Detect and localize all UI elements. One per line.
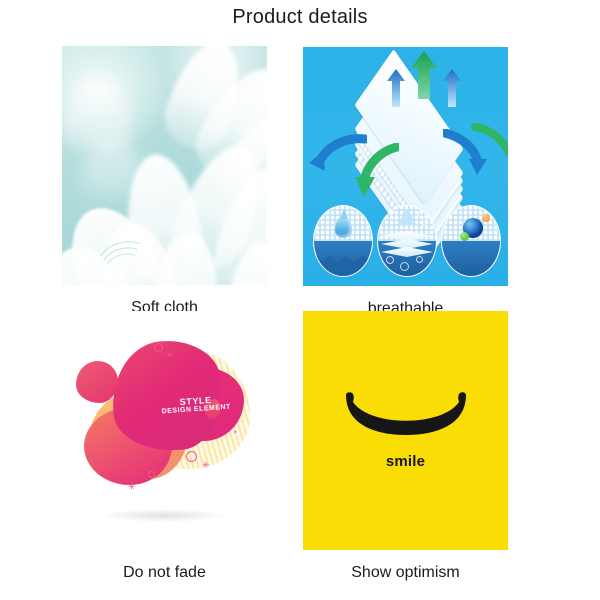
arrow-curve-green-icon (471, 119, 508, 159)
show-optimism-image[interactable]: smile (303, 311, 508, 550)
arrow-up-blue-icon (443, 69, 461, 107)
smile-label: smile (303, 453, 508, 470)
smile-curve-icon (303, 391, 508, 461)
sparkle-icon: ▪ (234, 429, 236, 436)
bubble-icon (390, 212, 397, 219)
product-detail-item-do-not-fade[interactable]: STYLE DESIGN ELEMENT ✳ ✳ ✳ ▪ Do not fade (62, 311, 307, 583)
breathable-feature-insets (311, 205, 501, 281)
breathable-image[interactable] (303, 47, 508, 286)
bubble-icon (400, 262, 409, 271)
arrow-up-blue-icon (387, 69, 405, 107)
product-detail-item-breathable[interactable]: breathable (303, 47, 548, 319)
fabric-stack-icon (381, 226, 433, 260)
decorative-ring-icon (186, 451, 197, 462)
soft-cloth-image[interactable] (62, 46, 267, 285)
blob-pink-lobe (76, 361, 118, 403)
vapour-arrow-icon (398, 208, 416, 224)
page-title: Product details (0, 6, 600, 29)
sparkle-icon: ✳ (128, 483, 136, 492)
water-droplet-icon (335, 216, 352, 238)
sparkle-icon: ✳ (202, 461, 210, 470)
do-not-fade-image[interactable]: STYLE DESIGN ELEMENT ✳ ✳ ✳ ▪ (62, 311, 267, 550)
inset-antibacterial (441, 205, 501, 277)
product-detail-item-soft-cloth[interactable]: Soft cloth (62, 46, 307, 318)
decorative-ring-icon (154, 343, 163, 352)
bubble-icon (416, 256, 423, 263)
decorative-ring-icon (148, 471, 155, 478)
product-detail-item-show-optimism[interactable]: smile Show optimism (303, 311, 548, 583)
bubble-icon (386, 256, 394, 264)
caption-show-optimism: Show optimism (303, 563, 508, 583)
bubble-icon (418, 210, 426, 218)
water-wave-icon (313, 250, 373, 276)
caption-do-not-fade: Do not fade (62, 563, 267, 583)
product-detail-grid: Soft cloth (0, 46, 600, 598)
sparkle-icon: ✳ (166, 351, 174, 360)
germ-dot-orange-icon (482, 214, 490, 222)
inset-moisture-wicking (377, 205, 437, 277)
arrow-down-green-icon (345, 143, 399, 199)
blob-shadow (102, 509, 226, 522)
inset-water-repellent (313, 205, 373, 277)
arrow-up-green-icon (411, 51, 437, 99)
germ-dot-green-icon (460, 232, 469, 241)
